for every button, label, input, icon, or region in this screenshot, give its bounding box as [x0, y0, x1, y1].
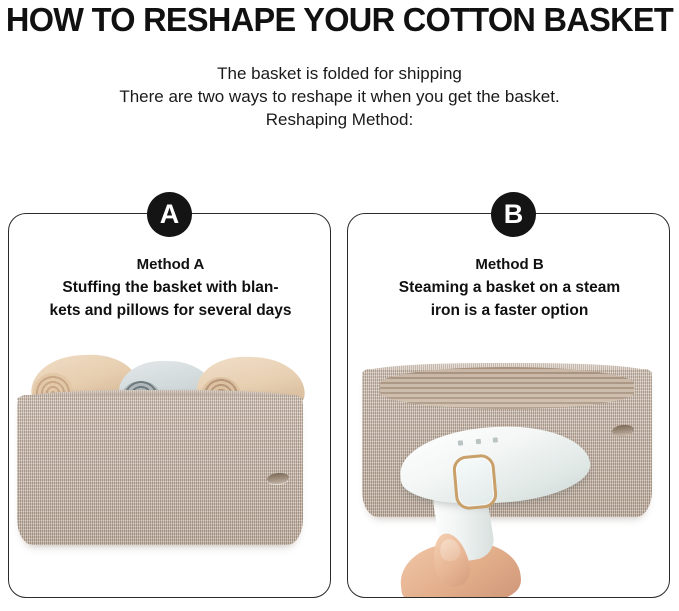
intro-line-3: Reshaping Method: — [0, 108, 679, 131]
method-b-photo — [348, 347, 669, 597]
method-a-badge: A — [147, 192, 192, 237]
method-a-photo — [9, 347, 330, 597]
intro-text-block: The basket is folded for shipping There … — [0, 62, 679, 131]
method-a-description-line-1: Stuffing the basket with blan- — [15, 276, 326, 299]
basket-b-interior — [380, 367, 634, 409]
method-panel-b: Method B Steaming a basket on a steam ir… — [347, 213, 670, 598]
basket-a-body — [17, 395, 303, 545]
intro-line-1: The basket is folded for shipping — [0, 62, 679, 85]
method-b-heading: Method B Steaming a basket on a steam ir… — [354, 254, 665, 322]
method-a-description-line-2: kets and pillows for several days — [15, 299, 326, 322]
page-title: HOW TO RESHAPE YOUR COTTON BASKET — [5, 0, 674, 40]
method-a-heading: Method A Stuffing the basket with blan- … — [15, 254, 326, 322]
method-a-title: Method A — [15, 254, 326, 276]
intro-line-2: There are two ways to reshape it when yo… — [0, 85, 679, 108]
method-b-description-line-2: iron is a faster option — [354, 299, 665, 322]
method-panel-a: Method A Stuffing the basket with blan- … — [8, 213, 331, 598]
method-b-title: Method B — [354, 254, 665, 276]
method-b-description-line-1: Steaming a basket on a steam — [354, 276, 665, 299]
basket-a-handle — [266, 472, 289, 485]
basket-b-handle — [611, 424, 634, 437]
steamer-power-button — [452, 453, 499, 510]
method-b-badge: B — [491, 192, 536, 237]
